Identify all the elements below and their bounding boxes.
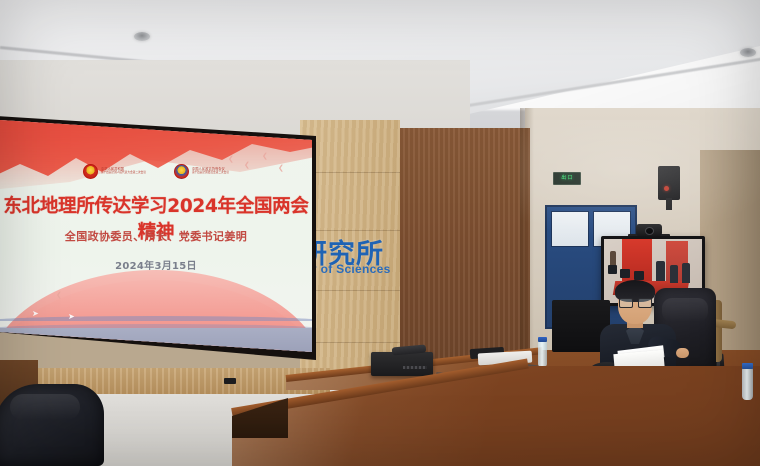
bird-icon: ❮ [228, 156, 234, 163]
tv-remote-person [682, 263, 690, 283]
dove-icon: ➤ [32, 310, 39, 318]
bird-icon: ❮ [262, 153, 268, 160]
water-bottle-foreground-cap [742, 363, 753, 369]
cppcc-emblem: 中国人民政治协商会议 第十四届全国委员会第二次会议 [174, 164, 229, 179]
dark-wood-wall-panel [398, 128, 530, 378]
downlight-icon [740, 48, 756, 57]
speaker-mount-arm [666, 198, 672, 210]
video-camera-icon [636, 224, 662, 236]
cppcc-emblem-badge-icon [174, 164, 189, 179]
tv-remote-person [610, 251, 616, 265]
slide-emblem-row: 中华人民共和国 第十四届全国人民代表大会第二次会议 中国人民政治协商会议 第十四… [0, 164, 312, 179]
wall-speaker-icon [658, 166, 680, 200]
exit-sign-char-2: 口 [568, 176, 573, 181]
tv-remote-monitor [634, 271, 644, 280]
cppcc-emblem-text: 中国人民政治协商会议 第十四届全国委员会第二次会议 [192, 168, 229, 175]
cppcc-emblem-line2: 第十四届全国委员会第二次会议 [192, 172, 229, 175]
downlight-icon [134, 32, 150, 41]
foreground-chair [0, 384, 104, 466]
wall-corner-shadow [520, 108, 534, 388]
npc-emblem-text: 中华人民共和国 第十四届全国人民代表大会第二次会议 [101, 168, 146, 175]
npc-emblem-badge-icon [83, 164, 98, 179]
tv-remote-monitor [608, 265, 617, 274]
tv-remote-person [656, 261, 665, 281]
projection-screen: ❮ ❮ ❮ ❮ 中华人民共和国 第十四届全国人民代表大会第二次会议 中国人民政治… [0, 120, 312, 354]
av-control-box[interactable] [371, 352, 433, 376]
npc-emblem: 中华人民共和国 第十四届全国人民代表大会第二次会议 [83, 164, 146, 179]
conference-room-photo: 研究所 my of Sciences 出 口 ❮ ❮ ❮ ❮ 中华人民共和国 [0, 0, 760, 466]
door-window-left [551, 211, 589, 247]
presentation-slide: ❮ ❮ ❮ ❮ 中华人民共和国 第十四届全国人民代表大会第二次会议 中国人民政治… [0, 120, 312, 354]
tv-remote-person [670, 265, 678, 283]
slide-subtitle: 全国政协委员、所长、党委书记姜明 [0, 228, 312, 244]
person-hand [676, 348, 689, 358]
exit-sign: 出 口 [553, 172, 581, 185]
npc-emblem-line2: 第十四届全国人民代表大会第二次会议 [101, 172, 146, 175]
bird-icon: ❮ [56, 292, 62, 299]
water-bottle-cap [538, 337, 547, 342]
exit-sign-char-1: 出 [561, 176, 566, 181]
tv-remote-monitor [620, 269, 630, 278]
water-bottle-foreground [742, 368, 753, 400]
glasses-icon [619, 298, 651, 306]
dove-icon: ➤ [68, 313, 75, 321]
water-bottle [538, 341, 547, 367]
wall-outlet-icon [224, 378, 236, 384]
slide-wave-band [0, 316, 312, 321]
